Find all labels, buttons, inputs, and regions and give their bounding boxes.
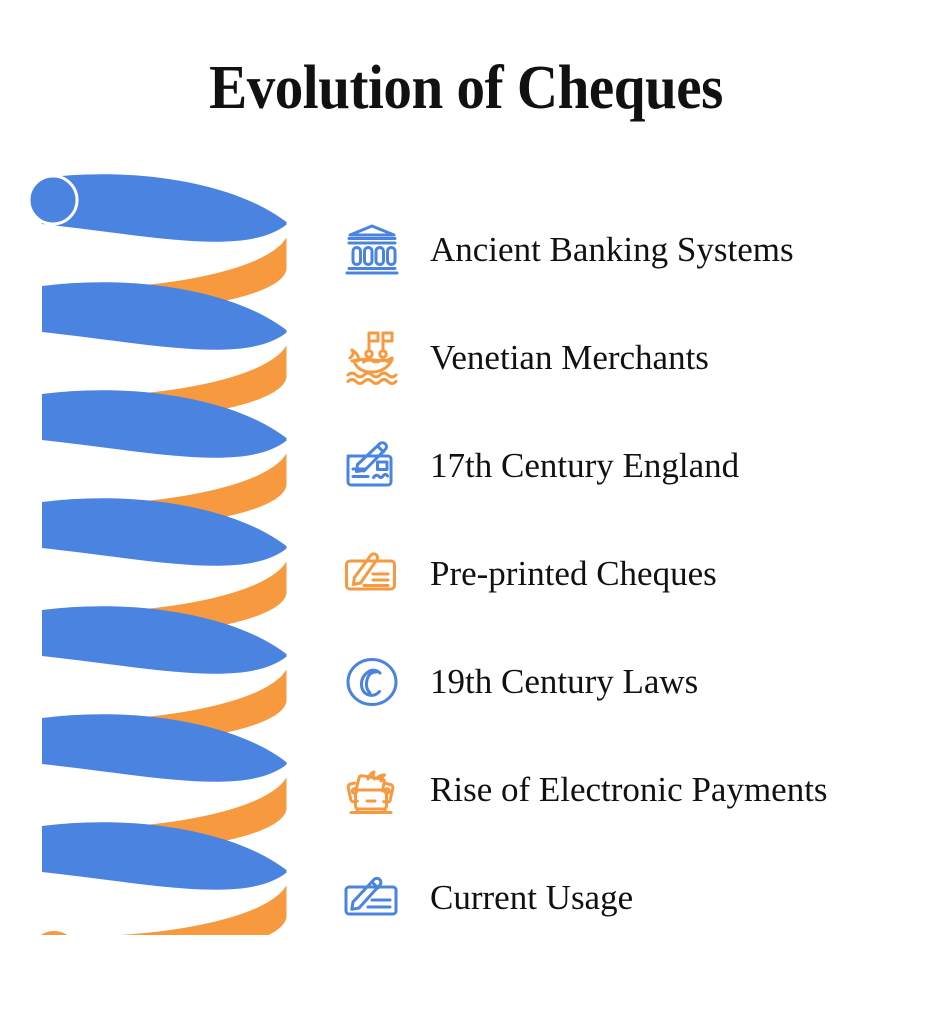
cheque-with-pen-icon	[340, 434, 404, 498]
infographic-poster: Evolution of Cheques Ancient Banking Sys…	[0, 0, 932, 1024]
timeline-item[interactable]: Current Usage	[340, 844, 920, 952]
cheque-edit-icon	[340, 866, 404, 930]
timeline-item-label: Pre-printed Cheques	[430, 554, 717, 594]
timeline-item-label: Ancient Banking Systems	[430, 230, 794, 270]
spiral-svg	[30, 160, 300, 935]
timeline-item-label: Venetian Merchants	[430, 338, 709, 378]
money-printer-icon	[340, 758, 404, 822]
bank-building-icon	[340, 218, 404, 282]
copyright-c-icon	[340, 650, 404, 714]
timeline-item[interactable]: 19th Century Laws	[340, 628, 920, 736]
timeline-item[interactable]: Rise of Electronic Payments	[340, 736, 920, 844]
page-title: Evolution of Cheques	[37, 52, 894, 124]
timeline-list: Ancient Banking Systems Venetian Merchan	[340, 196, 920, 952]
timeline-item[interactable]: Venetian Merchants	[340, 304, 920, 412]
timeline-item-label: Rise of Electronic Payments	[430, 770, 828, 810]
spiral-start-cap	[30, 176, 77, 224]
spiral-back-segment	[42, 174, 288, 241]
timeline-item-label: Current Usage	[430, 878, 633, 918]
timeline-item-label: 17th Century England	[430, 446, 739, 486]
timeline-item[interactable]: Pre-printed Cheques	[340, 520, 920, 628]
timeline-item[interactable]: 17th Century England	[340, 412, 920, 520]
timeline-item-label: 19th Century Laws	[430, 662, 698, 702]
evolution-spiral-graphic	[30, 160, 300, 935]
timeline-item[interactable]: Ancient Banking Systems	[340, 196, 920, 304]
cheque-signing-icon	[340, 542, 404, 606]
sailing-ship-icon	[340, 326, 404, 390]
